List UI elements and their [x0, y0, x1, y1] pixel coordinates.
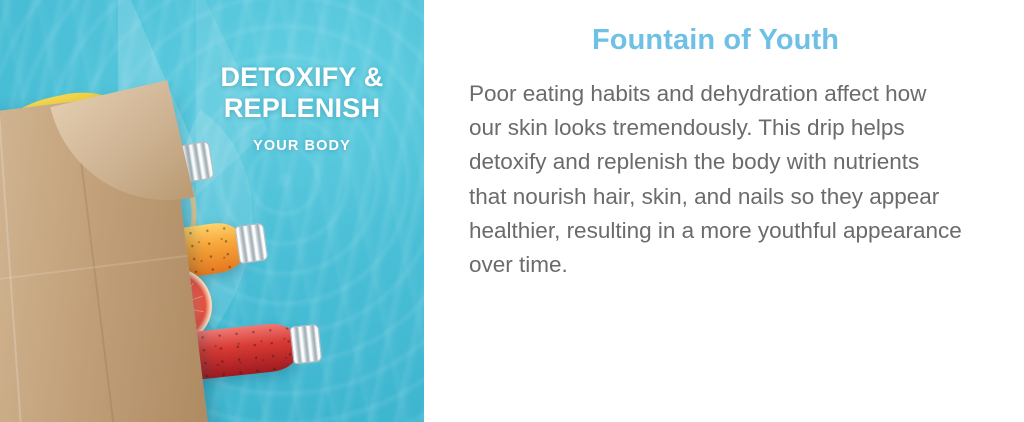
promo-image-panel: DETOXIFY & REPLENISH YOUR BODY: [0, 0, 424, 422]
bottle-cap-icon: [290, 324, 323, 365]
kraft-paper-bag: [0, 90, 211, 422]
promo-subheadline: YOUR BODY: [196, 138, 408, 154]
service-description-text: Poor eating habits and dehydration affec…: [469, 77, 962, 282]
page-title: Fountain of Youth: [469, 24, 962, 57]
service-description-panel: Fountain of Youth Poor eating habits and…: [424, 0, 1024, 422]
promo-headline: DETOXIFY & REPLENISH: [196, 62, 408, 124]
bag-opening: [50, 80, 194, 224]
service-promo-card: DETOXIFY & REPLENISH YOUR BODY Fountain …: [0, 0, 1024, 422]
bag-crease: [0, 111, 25, 422]
promo-overlay-text: DETOXIFY & REPLENISH YOUR BODY: [196, 62, 408, 154]
bottle-cap-icon: [235, 222, 269, 264]
